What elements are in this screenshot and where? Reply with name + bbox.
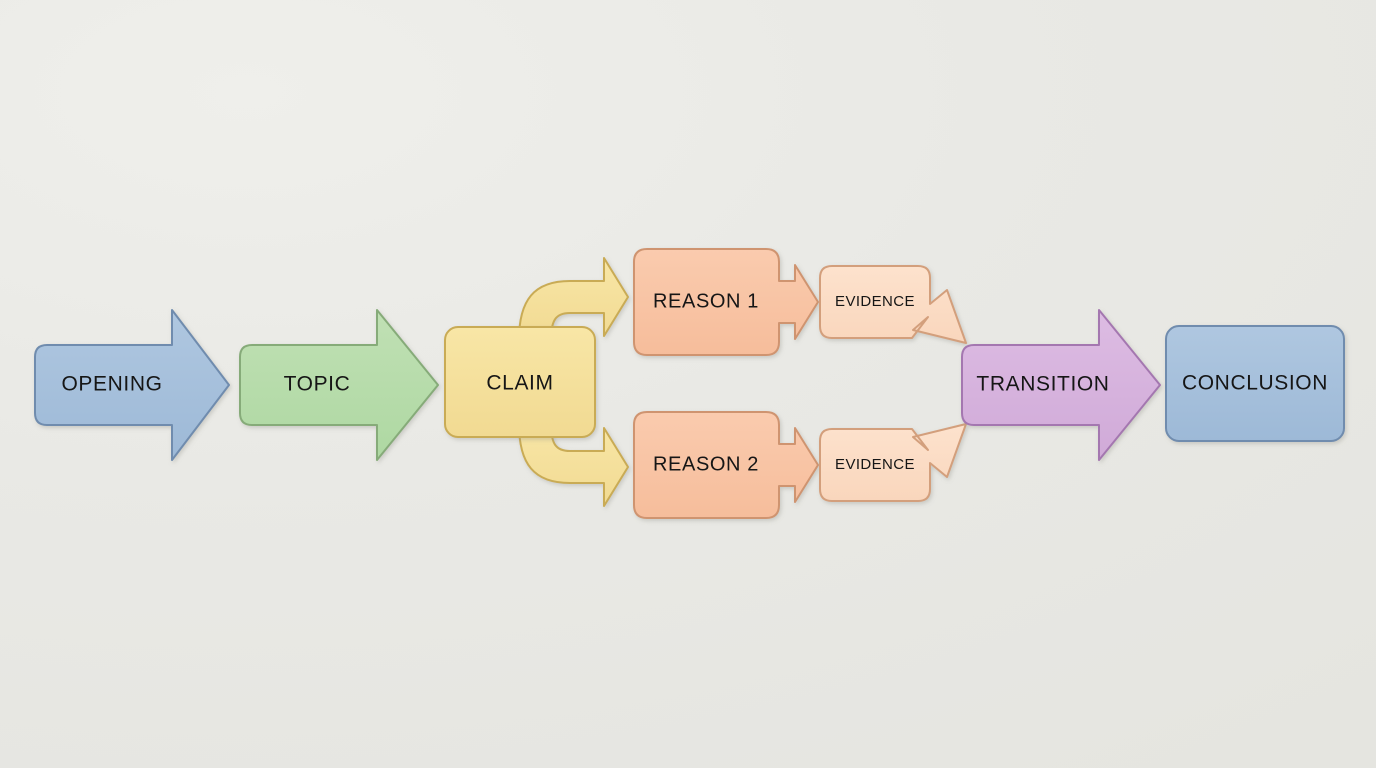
node-transition[interactable]: TRANSITION xyxy=(962,310,1160,460)
node-reason-2[interactable]: REASON 2 xyxy=(634,412,818,518)
node-reason-1[interactable]: REASON 1 xyxy=(634,249,818,355)
node-conclusion[interactable]: CONCLUSION xyxy=(1166,326,1344,441)
node-opening[interactable]: OPENING xyxy=(35,310,229,460)
evidence-1-label: EVIDENCE xyxy=(835,293,915,310)
reason-2-label: REASON 2 xyxy=(653,453,759,475)
node-evidence-2[interactable]: EVIDENCE xyxy=(820,424,966,501)
node-claim[interactable]: CLAIM xyxy=(445,327,595,437)
evidence-2-label: EVIDENCE xyxy=(835,456,915,473)
transition-label: TRANSITION xyxy=(976,373,1109,396)
node-topic[interactable]: TOPIC xyxy=(240,310,438,460)
diagram-canvas: OPENING TOPIC CLAIM REASON 1 REASON 2 xyxy=(0,0,1376,768)
topic-label: TOPIC xyxy=(284,373,351,396)
conclusion-label: CONCLUSION xyxy=(1182,372,1328,395)
argument-structure-diagram: OPENING TOPIC CLAIM REASON 1 REASON 2 xyxy=(0,0,1376,768)
claim-label: CLAIM xyxy=(486,372,553,395)
reason-1-label: REASON 1 xyxy=(653,290,759,312)
opening-label: OPENING xyxy=(61,373,162,396)
node-evidence-1[interactable]: EVIDENCE xyxy=(820,266,966,343)
